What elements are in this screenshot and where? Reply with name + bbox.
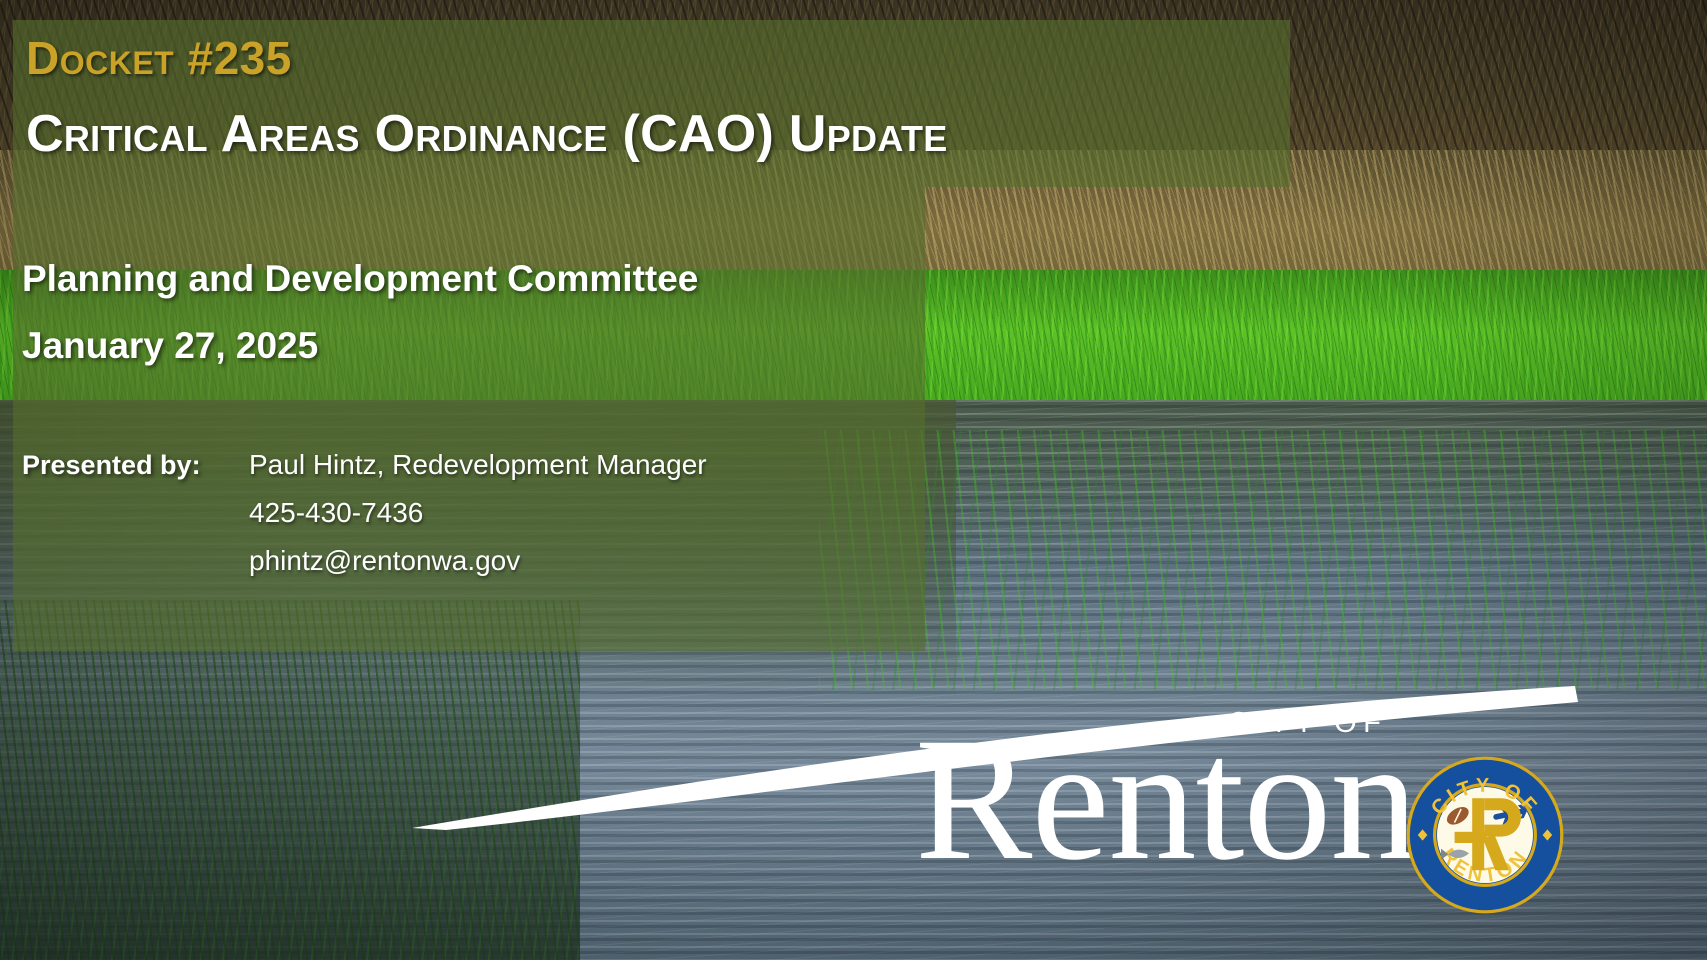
city-of-renton-seal-icon: CITY OF RENTON (1405, 755, 1565, 915)
docket-number: Docket #235 (26, 31, 292, 85)
presenter-name: Paul Hintz, Redevelopment Manager (249, 449, 707, 481)
body-overlay-panel (13, 187, 925, 651)
committee-name: Planning and Development Committee (22, 258, 698, 300)
city-of-label: CITY OF (1228, 707, 1387, 740)
slide-title: Critical Areas Ordinance (CAO) Update (26, 104, 948, 164)
city-of-renton-logo: Renton CITY OF CITY OF RENTON (400, 660, 1707, 960)
presentation-slide: Docket #235 Critical Areas Ordinance (CA… (0, 0, 1707, 960)
presenter-email: phintz@rentonwa.gov (249, 545, 520, 577)
presented-by-label: Presented by: (22, 450, 201, 481)
presenter-phone: 425-430-7436 (249, 497, 423, 529)
presentation-date: January 27, 2025 (22, 325, 318, 367)
